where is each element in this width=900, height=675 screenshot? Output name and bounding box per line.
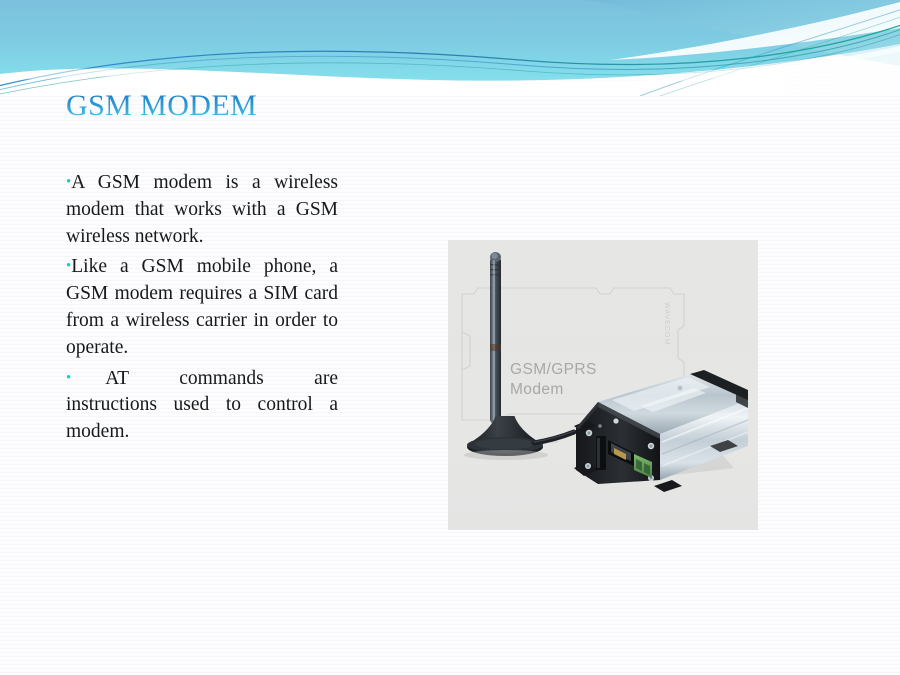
figure-caption-overlay: GSM/GPRS Modem: [510, 360, 597, 400]
bullet-item: •Like a GSM mobile phone, a GSM modem re…: [66, 254, 338, 361]
bullet-marker-icon: •: [66, 370, 71, 386]
gsm-modem-illustration: [448, 240, 758, 530]
bullet-text: A GSM modem is a wireless modem that wor…: [66, 172, 338, 247]
figure-side-overlay: WAVECOM: [662, 302, 671, 345]
bullet-text: AT commands are instructions used to con…: [66, 368, 338, 443]
bullet-list: •A GSM modem is a wireless modem that wo…: [66, 170, 338, 446]
page-title: GSM MODEM: [66, 88, 257, 124]
bullet-item: •AT commands are instructions used to co…: [66, 366, 338, 446]
bullet-text: Like a GSM mobile phone, a GSM modem req…: [66, 256, 338, 357]
slide-canvas: GSM MODEM •A GSM modem is a wireless mod…: [0, 0, 900, 675]
header-wave-decoration: [0, 0, 900, 96]
gsm-modem-figure: GSM/GPRS Modem WAVECOM: [448, 240, 758, 530]
bullet-item: •A GSM modem is a wireless modem that wo…: [66, 170, 338, 250]
